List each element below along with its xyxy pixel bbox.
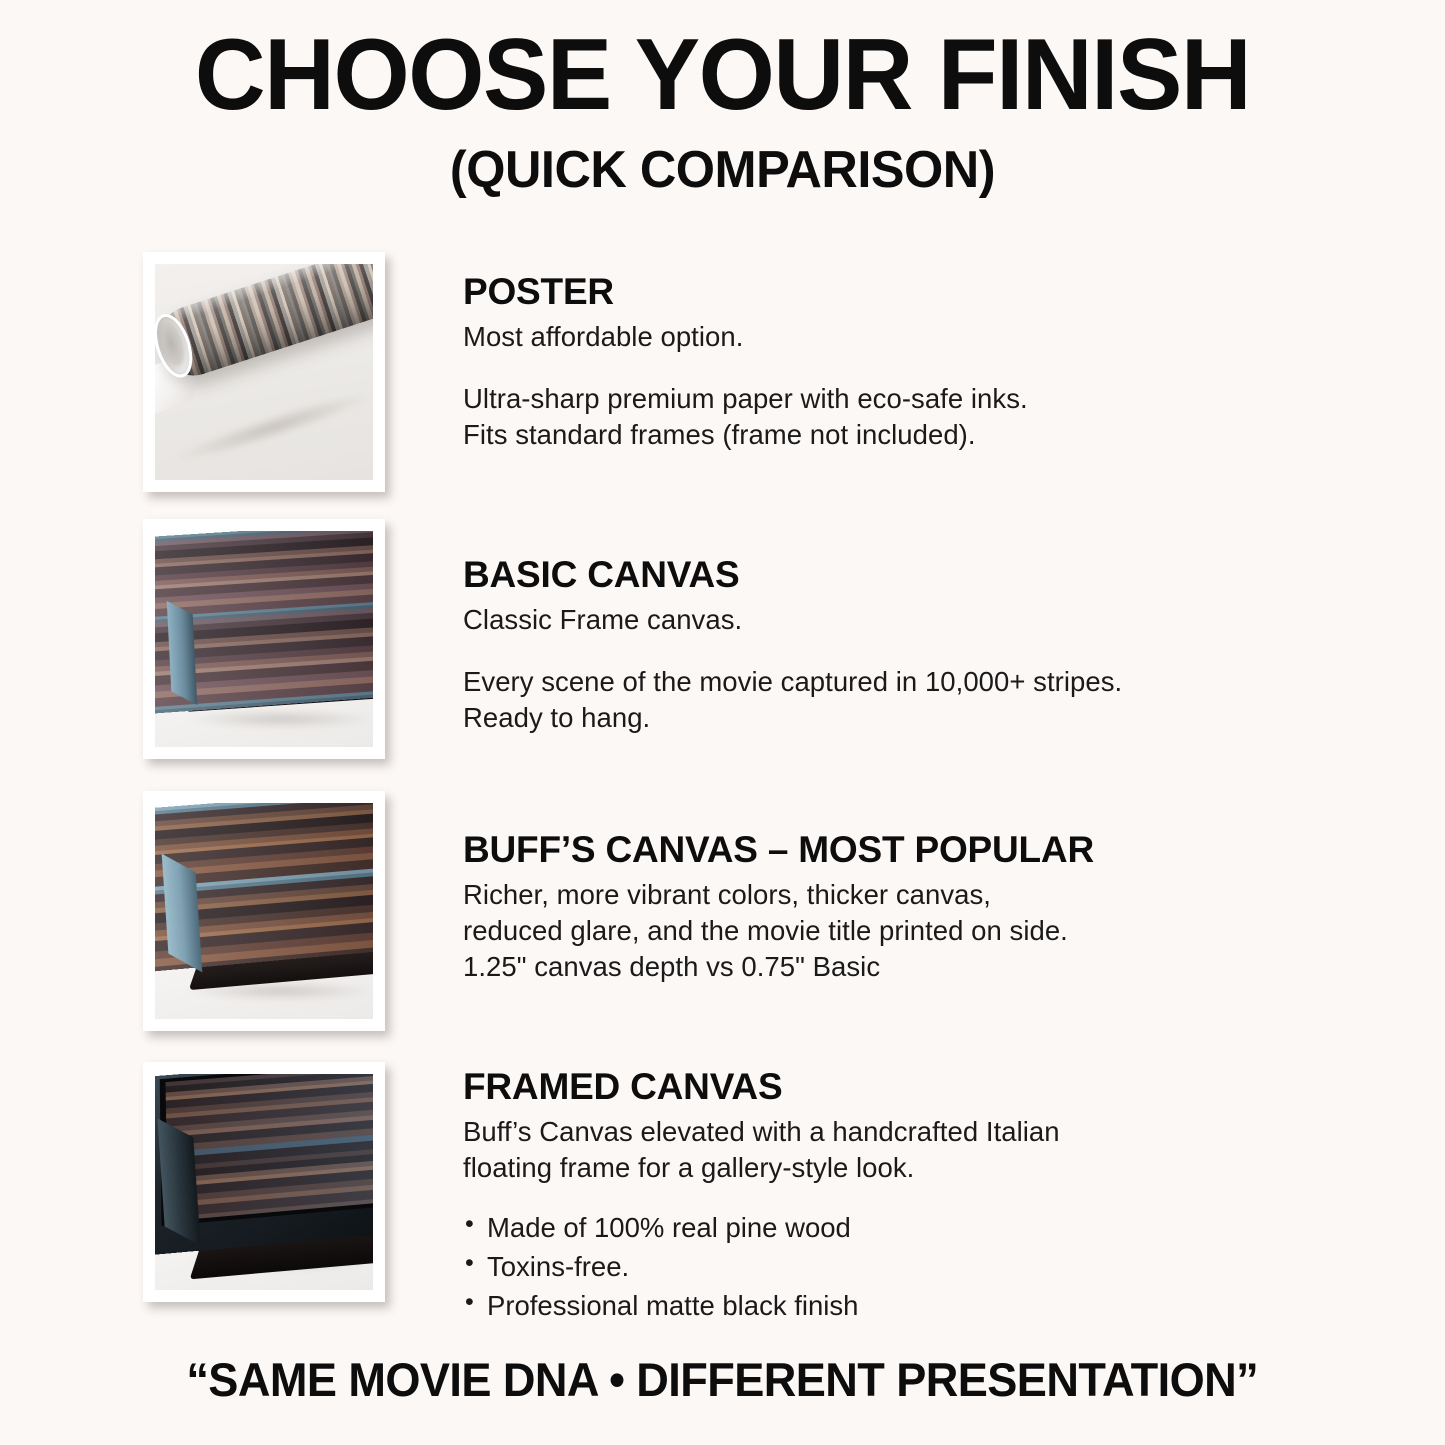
poster-image-card <box>143 252 385 492</box>
framed-canvas-bullet-list: Made of 100% real pine wood Toxins-free.… <box>463 1208 1253 1325</box>
footer-tagline: “SAME MOVIE DNA • DIFFERENT PRESENTATION… <box>187 1352 1259 1407</box>
basic-canvas-text-block: BASIC CANVAS Classic Frame canvas. Every… <box>463 555 1253 735</box>
option-detail-line-1: Buff’s Canvas elevated with a handcrafte… <box>463 1114 1253 1150</box>
option-detail-line-2: Ready to hang. <box>463 700 1253 736</box>
buffs-canvas-corner-photo <box>155 803 373 1019</box>
buffs-canvas-image-card <box>143 791 385 1031</box>
option-row-poster: POSTER Most affordable option. Ultra-sha… <box>0 252 1445 502</box>
framed-canvas-text-block: FRAMED CANVAS Buff’s Canvas elevated wit… <box>463 1067 1253 1325</box>
option-row-framed-canvas: FRAMED CANVAS Buff’s Canvas elevated wit… <box>0 1062 1445 1312</box>
page-title: CHOOSE YOUR FINISH <box>22 22 1424 128</box>
option-title-basic-canvas: BASIC CANVAS <box>463 555 1253 594</box>
list-item: Professional matte black finish <box>463 1286 1253 1325</box>
basic-canvas-corner-photo <box>155 531 373 747</box>
rolled-poster-print-photo <box>155 264 373 480</box>
framed-canvas-image-card <box>143 1062 385 1302</box>
option-row-buffs-canvas: BUFF’S CANVAS – MOST POPULAR Richer, mor… <box>0 791 1445 1041</box>
option-detail-line-1: Richer, more vibrant colors, thicker can… <box>463 877 1253 913</box>
footer: “SAME MOVIE DNA • DIFFERENT PRESENTATION… <box>0 1352 1445 1407</box>
infographic-page: CHOOSE YOUR FINISH (QUICK COMPARISON) PO… <box>0 0 1445 1445</box>
option-tagline-basic-canvas: Classic Frame canvas. <box>463 602 1253 638</box>
option-detail-line-1: Ultra-sharp premium paper with eco-safe … <box>463 381 1253 417</box>
option-detail-line-2: reduced glare, and the movie title print… <box>463 913 1253 949</box>
basic-canvas-image-card <box>143 519 385 759</box>
option-title-framed-canvas: FRAMED CANVAS <box>463 1067 1253 1106</box>
option-detail-line-1: Every scene of the movie captured in 10,… <box>463 664 1253 700</box>
option-detail-line-2: floating frame for a gallery-style look. <box>463 1150 1253 1186</box>
list-item: Made of 100% real pine wood <box>463 1208 1253 1247</box>
page-subtitle: (QUICK COMPARISON) <box>22 142 1424 199</box>
poster-text-block: POSTER Most affordable option. Ultra-sha… <box>463 272 1253 452</box>
option-detail-line-3: 1.25" canvas depth vs 0.75" Basic <box>463 949 1253 985</box>
list-item: Toxins-free. <box>463 1247 1253 1286</box>
canvas-side-edge <box>167 601 198 705</box>
header: CHOOSE YOUR FINISH (QUICK COMPARISON) <box>0 22 1445 199</box>
framed-canvas-corner-photo <box>155 1074 373 1290</box>
option-title-poster: POSTER <box>463 272 1253 311</box>
photo-shadow <box>185 709 373 729</box>
option-detail-line-2: Fits standard frames (frame not included… <box>463 417 1253 453</box>
option-row-basic-canvas: BASIC CANVAS Classic Frame canvas. Every… <box>0 519 1445 769</box>
option-title-buffs-canvas: BUFF’S CANVAS – MOST POPULAR <box>463 830 1253 869</box>
buffs-canvas-text-block: BUFF’S CANVAS – MOST POPULAR Richer, mor… <box>463 830 1253 984</box>
option-tagline-poster: Most affordable option. <box>463 319 1253 355</box>
